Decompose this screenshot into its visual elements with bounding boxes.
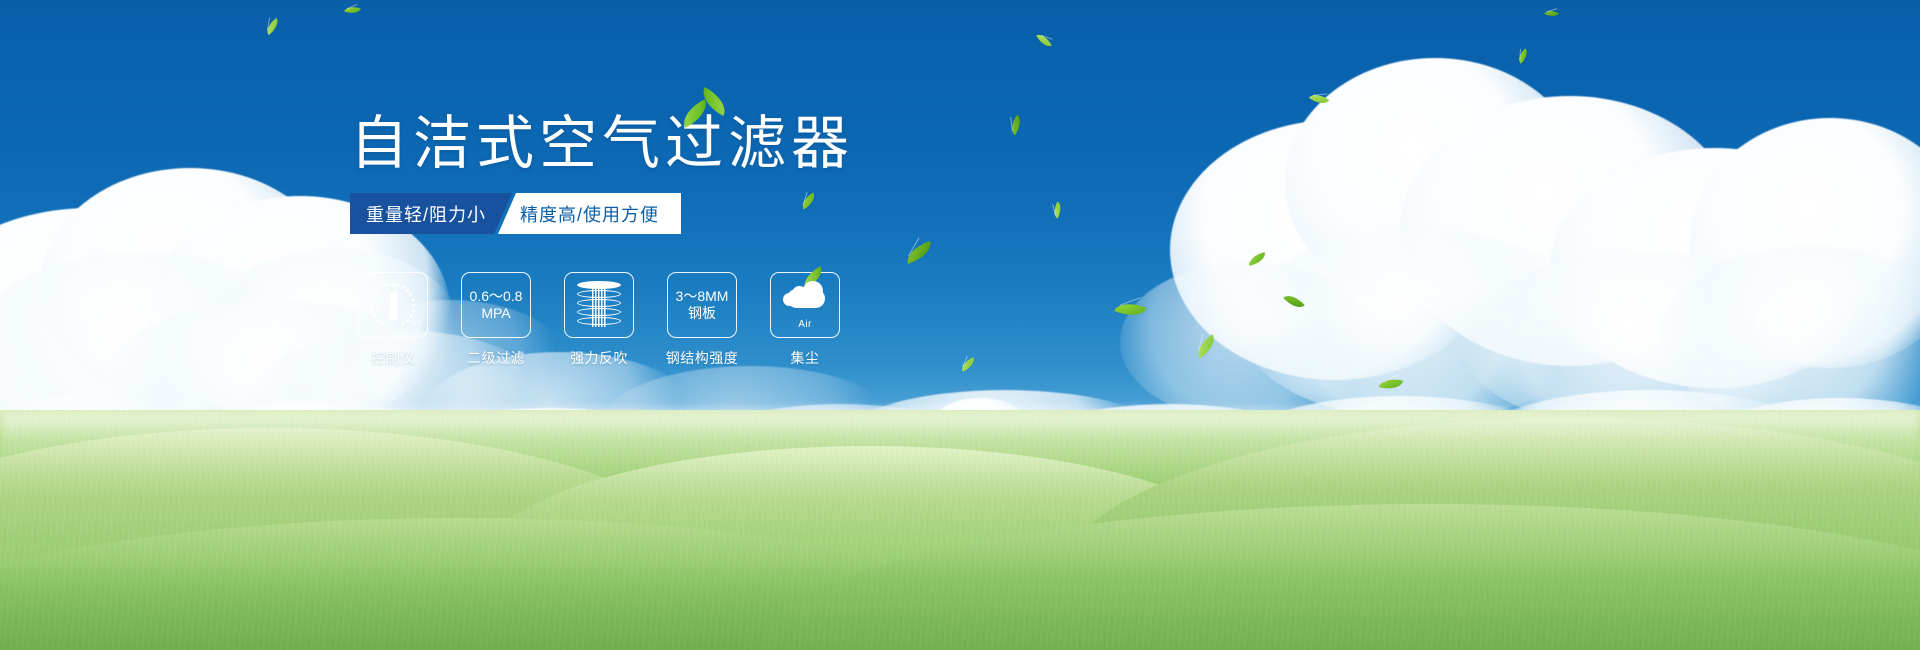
feature-icon-box: NO OFF: [358, 272, 428, 338]
tag-row: 重量轻/阻力小 精度高/使用方便: [350, 193, 681, 234]
pressure-range-text: 0.6～0.8: [470, 288, 523, 305]
feature-steel-strength: 3～8MM 钢板 钢结构强度: [667, 272, 737, 368]
banner-content: 自洁式空气过滤器 重量轻/阻力小 精度高/使用方便: [0, 0, 1920, 650]
feature-row: NO OFF 控制仪 0.6～0.8 MPA 二级过滤: [358, 272, 840, 368]
gauge-needle: [390, 291, 397, 321]
feature-icon-box: 0.6～0.8 MPA: [461, 272, 531, 338]
feature-secondary-filtration: 0.6～0.8 MPA 二级过滤: [461, 272, 531, 368]
feature-label: 控制仪: [371, 348, 415, 368]
feature-label: 二级过滤: [467, 348, 525, 368]
steel-thickness-text: 3～8MM: [676, 288, 729, 305]
gauge-dial-icon: NO OFF: [370, 282, 416, 328]
coil-ring: [577, 290, 621, 298]
feature-controller: NO OFF 控制仪: [358, 272, 428, 368]
tag-label: 精度高/使用方便: [520, 201, 659, 227]
product-banner: 自洁式空气过滤器 重量轻/阻力小 精度高/使用方便: [0, 0, 1920, 650]
pressure-unit-text: MPA: [481, 305, 510, 322]
feature-icon-box: Air: [770, 272, 840, 338]
feature-icon-box: 3～8MM 钢板: [667, 272, 737, 338]
feature-strong-blowback: 强力反吹: [564, 272, 634, 368]
tag-precision-convenience: 精度高/使用方便: [498, 193, 681, 234]
cloud-air-leaf-icon: Air: [779, 277, 831, 321]
coil-ring: [577, 308, 621, 316]
steel-plate-text: 钢板: [688, 305, 716, 322]
gauge-on-label: NO: [365, 307, 374, 313]
title-row: 自洁式空气过滤器: [350, 113, 854, 175]
feature-icon-box: [564, 272, 634, 338]
feature-label: 集尘: [791, 348, 820, 368]
air-label: Air: [779, 319, 831, 330]
filter-coil-icon: [577, 281, 621, 329]
page-title: 自洁式空气过滤器: [350, 113, 854, 175]
leaf-pair-icon: [680, 91, 732, 131]
tag-label: 重量轻/阻力小: [366, 201, 486, 227]
coil-ring: [577, 317, 621, 325]
coil-ring: [577, 299, 621, 307]
feature-label: 强力反吹: [570, 348, 628, 368]
feature-dust-collection: Air 集尘: [770, 272, 840, 368]
coil-ring: [577, 281, 621, 289]
feature-label: 钢结构强度: [666, 348, 739, 368]
tag-lightweight-lowresistance: 重量轻/阻力小: [350, 193, 512, 234]
gauge-off-label: OFF: [410, 321, 422, 327]
